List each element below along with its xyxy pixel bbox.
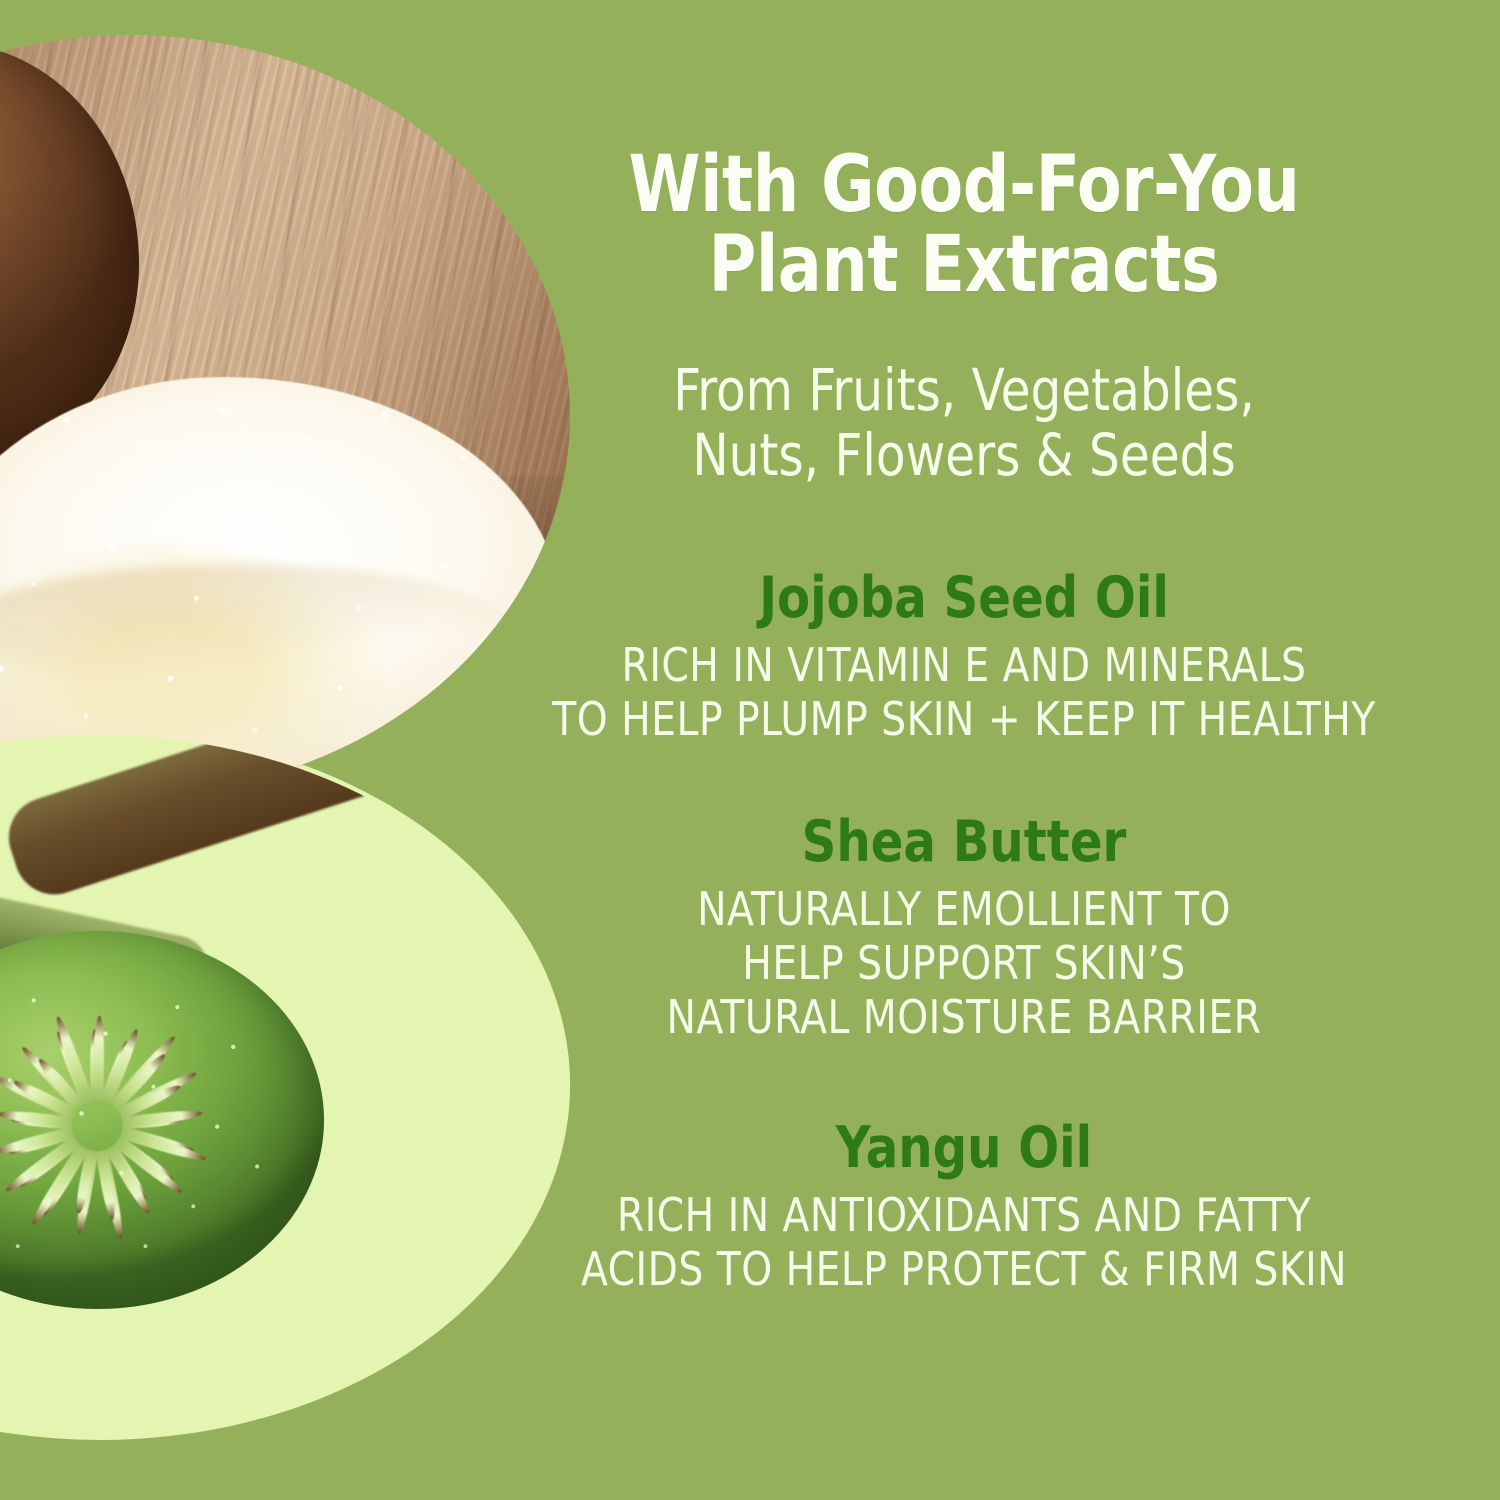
headline-line-2: Plant Extracts: [503, 226, 1426, 306]
subtitle: From Fruits, Vegetables, Nuts, Flowers &…: [503, 358, 1426, 488]
ingredient-name-jojoba-seed-oil: Jojoba Seed Oil: [498, 568, 1430, 630]
subtitle-line-2: Nuts, Flowers & Seeds: [503, 423, 1426, 488]
page-title: With Good-For-You Plant Extracts: [503, 146, 1426, 305]
ingredient-block-yangu-oil: Yangu Oil RICH IN ANTIOXIDANTS AND FATTY…: [468, 1118, 1460, 1296]
castor-pod-primary: [0, 931, 324, 1309]
ingredient-desc-jojoba-line-2: TO HELP PLUMP SKIN + KEEP IT HEALTHY: [493, 692, 1435, 746]
ingredient-block-shea-butter: Shea Butter NATURALLY EMOLLIENT TO HELP …: [468, 812, 1460, 1044]
headline-line-1: With Good-For-You: [503, 146, 1426, 226]
ingredient-desc-shea-line-1: NATURALLY EMOLLIENT TO: [493, 882, 1435, 936]
ingredient-desc-jojoba-line-1: RICH IN VITAMIN E AND MINERALS: [493, 638, 1435, 692]
ingredient-name-yangu-oil: Yangu Oil: [498, 1118, 1430, 1180]
ingredient-desc-shea-line-2: HELP SUPPORT SKIN’S: [493, 936, 1435, 990]
text-column: With Good-For-You Plant Extracts From Fr…: [468, 0, 1460, 1500]
ingredient-desc-yangu-line-1: RICH IN ANTIOXIDANTS AND FATTY: [493, 1188, 1435, 1242]
ingredient-block-jojoba-seed-oil: Jojoba Seed Oil RICH IN VITAMIN E AND MI…: [468, 568, 1460, 746]
ingredient-desc-yangu-line-2: ACIDS TO HELP PROTECT & FIRM SKIN: [493, 1242, 1435, 1296]
subtitle-line-1: From Fruits, Vegetables,: [503, 358, 1426, 423]
ingredient-desc-shea-line-3: NATURAL MOISTURE BARRIER: [493, 990, 1435, 1044]
ingredient-name-shea-butter: Shea Butter: [498, 812, 1430, 874]
plant-extracts-infographic: With Good-For-You Plant Extracts From Fr…: [0, 0, 1500, 1500]
